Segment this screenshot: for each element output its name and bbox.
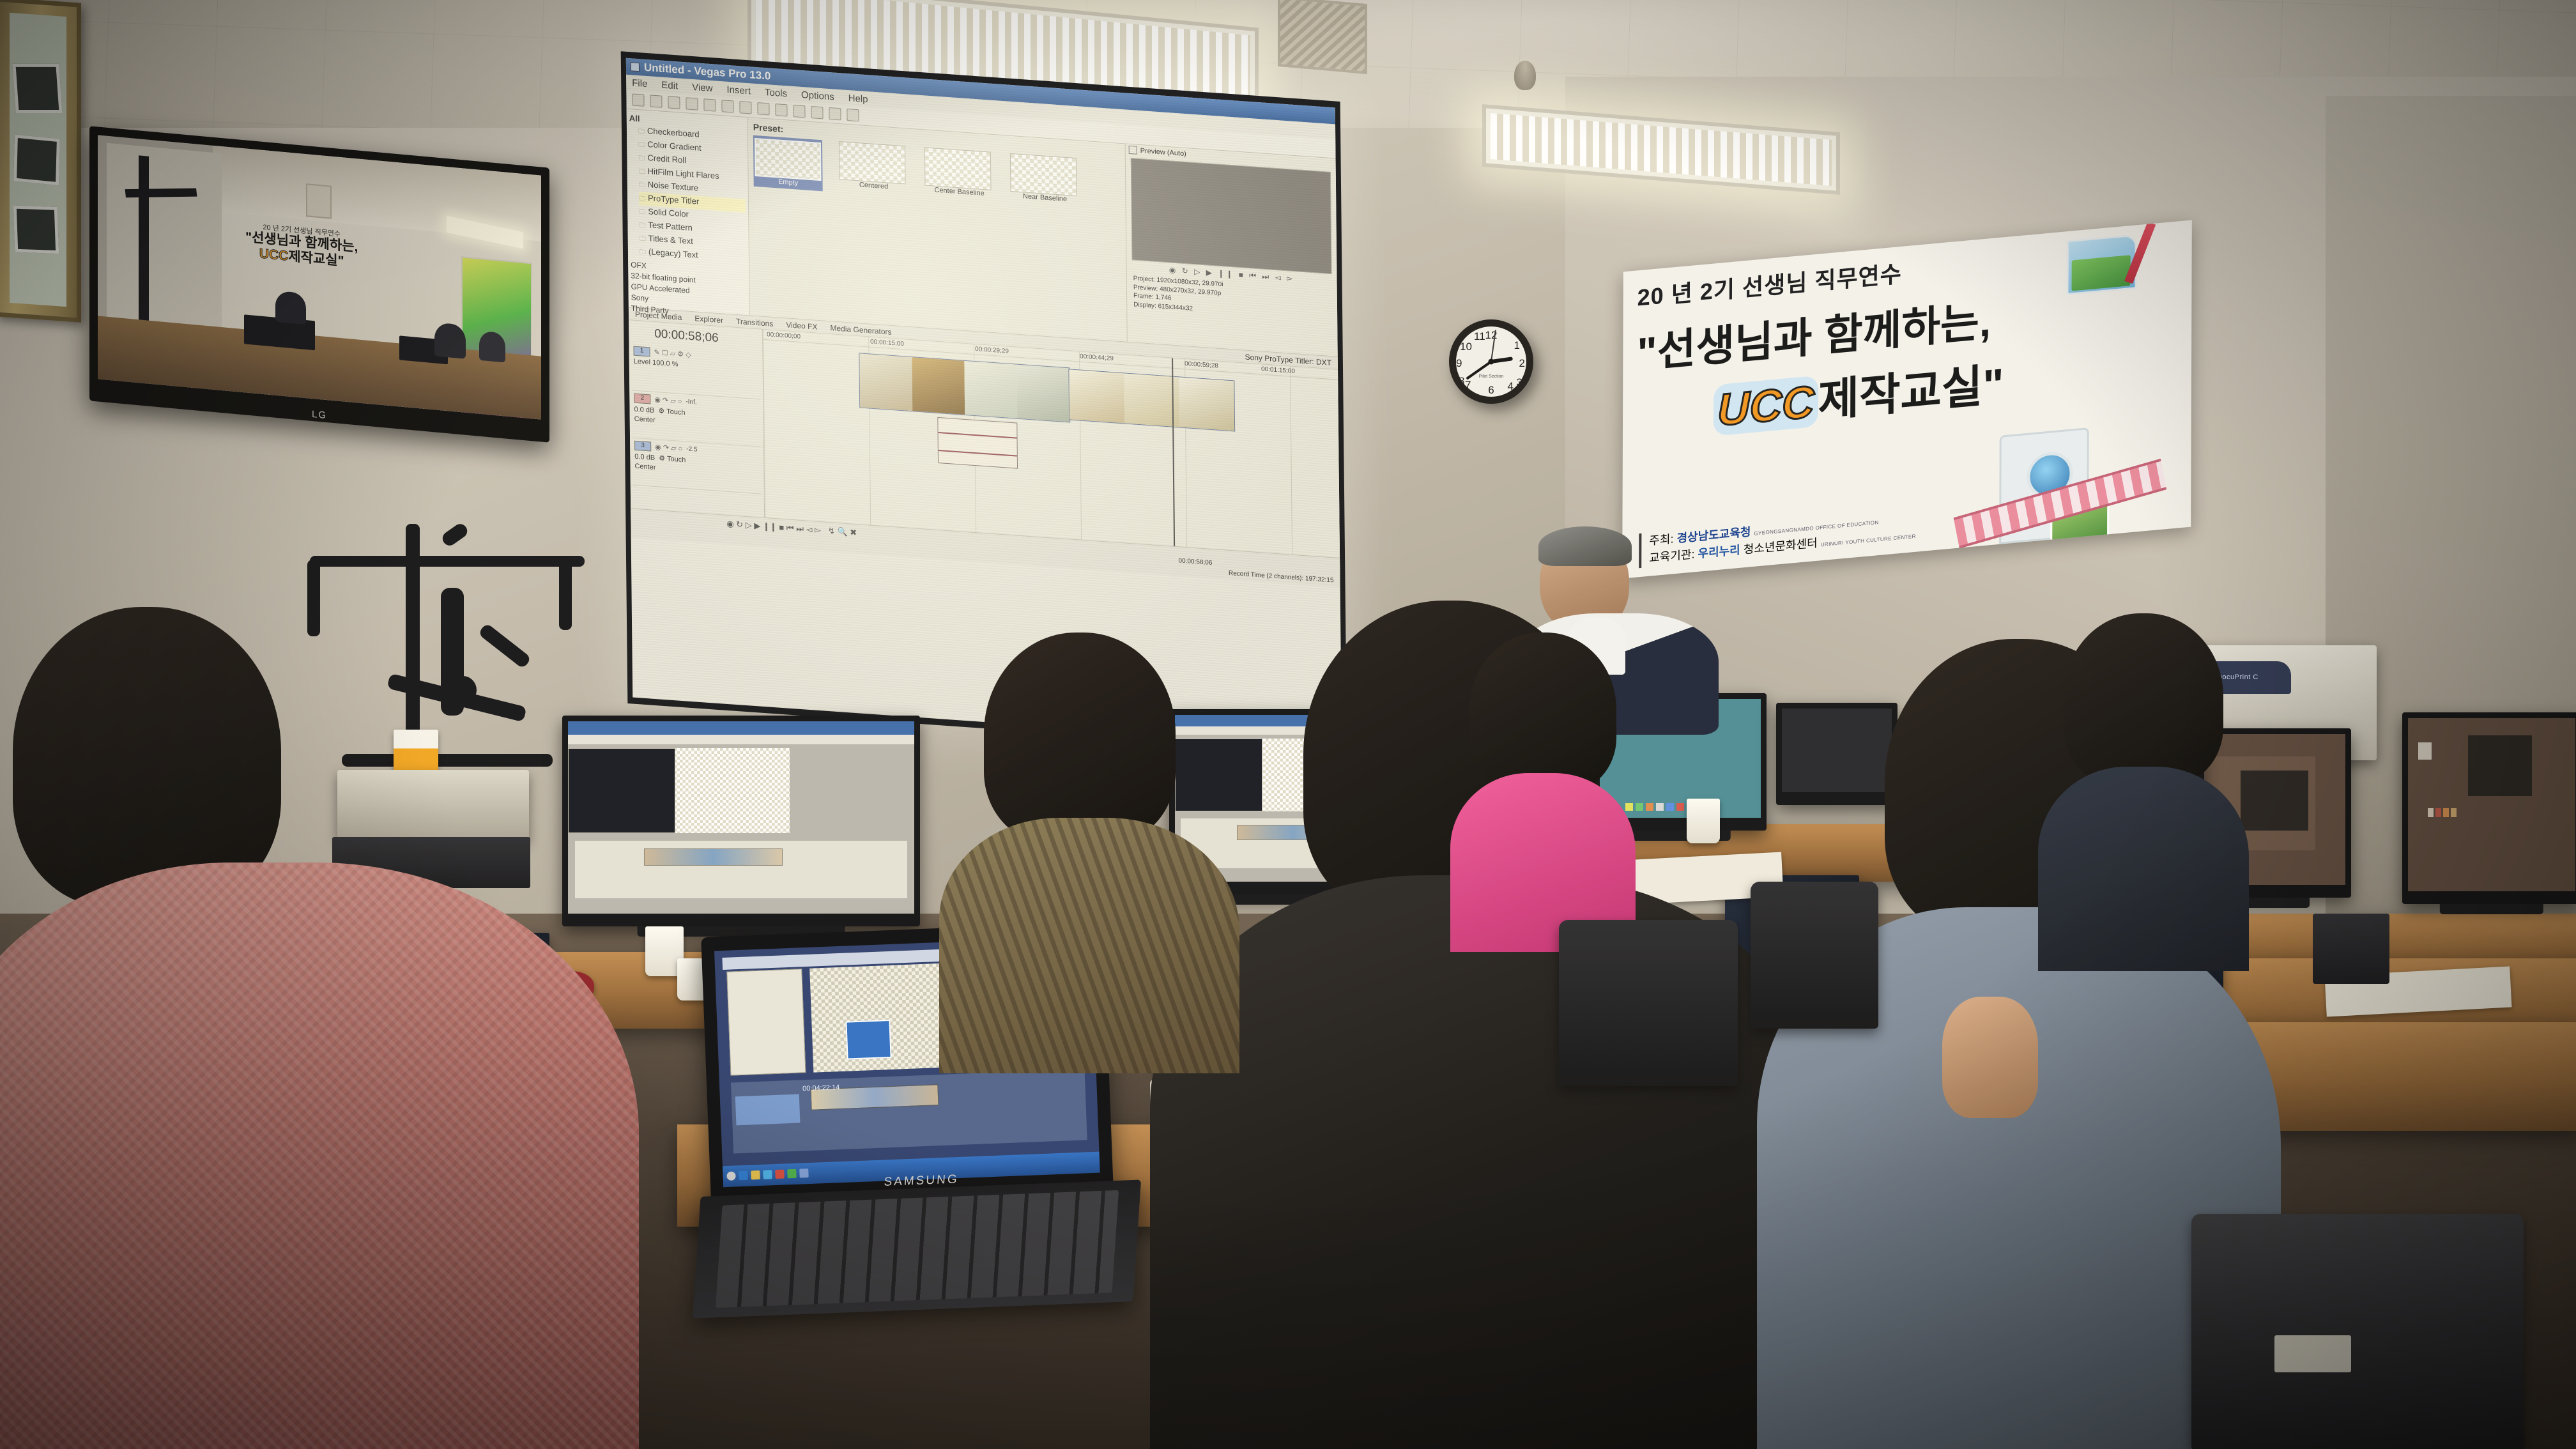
classroom-scene: 20 년 2기 선생님 직무연수 "선생님과 함께하는, UCC제작교실" LG: [0, 0, 2576, 1449]
menu-insert[interactable]: Insert: [726, 84, 751, 96]
ruler-mark: 00:01:15;00: [1261, 365, 1295, 375]
chair-label-tag: [2274, 1335, 2351, 1372]
ruler-mark: 00:00:44;29: [1080, 353, 1114, 362]
preset-thumbnail: [924, 147, 992, 190]
clock-hour-4: 4: [1508, 380, 1514, 393]
wall-mounted-tv: 20 년 2기 선생님 직무연수 "선생님과 함께하는, UCC제작교실" LG: [89, 126, 549, 443]
track-gain[interactable]: 0.0 dB: [634, 406, 654, 415]
properties-icon[interactable]: [703, 98, 716, 111]
video-app-icon[interactable]: [775, 1170, 785, 1179]
save-project-icon[interactable]: [668, 96, 680, 109]
start-button-icon[interactable]: [726, 1172, 736, 1181]
laptop-base: SAMSUNG: [693, 1179, 1141, 1318]
media-player-icon[interactable]: [763, 1170, 772, 1180]
track-meter: -Inf.: [686, 398, 696, 406]
clock-hour-hand: [1491, 356, 1514, 364]
laptop-keyboard[interactable]: [715, 1190, 1118, 1308]
enable-snapping-icon[interactable]: [829, 107, 841, 120]
track-meter: -2.5: [686, 445, 697, 453]
instructor-hair: [1538, 526, 1632, 566]
track-number[interactable]: 2: [634, 394, 650, 404]
help-icon[interactable]: [847, 109, 859, 121]
clock-hour-6: 6: [1488, 384, 1494, 397]
ruler-mark: 00:00:29;29: [975, 346, 1009, 355]
laptop-timecode: 00:04:22;14: [802, 1084, 840, 1092]
banner-ucc-logo: UCC: [1713, 376, 1818, 436]
menu-options[interactable]: Options: [801, 89, 834, 102]
track-number[interactable]: 3: [634, 441, 651, 452]
track-header-audio-2[interactable]: 2 ◉ ↷ ⏥ ○ -Inf. 0.0 dB ⚙ Touch Center: [632, 390, 761, 447]
chair-center: [1559, 920, 1738, 1086]
preset-empty[interactable]: Empty: [753, 135, 823, 192]
laptop-brand-label: SAMSUNG: [884, 1172, 959, 1190]
preset-thumbnail: [839, 141, 906, 184]
undo-icon[interactable]: [793, 105, 805, 118]
record-time-status: Record Time (2 channels): 197:32:15: [1229, 570, 1334, 585]
status-timecode: 00:00:58;06: [1178, 557, 1212, 567]
clock-center-pin: [1489, 359, 1494, 365]
redo-icon[interactable]: [811, 106, 823, 119]
preset-centered[interactable]: Centered: [839, 141, 908, 197]
preset-thumbnail: [755, 138, 822, 181]
student-head: [2064, 613, 2223, 786]
menu-edit[interactable]: Edit: [661, 79, 678, 91]
person-student-pink: [1437, 632, 1648, 952]
timeline-video-clip[interactable]: [859, 353, 1070, 422]
student-torso: [2038, 767, 2249, 971]
timeline-video-clip[interactable]: [1068, 369, 1235, 431]
chair-right-back: [1751, 882, 1878, 1029]
track-gain[interactable]: 0.0 dB: [634, 453, 655, 462]
vegas-icon[interactable]: [799, 1169, 809, 1178]
track-number[interactable]: 1: [634, 346, 650, 357]
clock-hour-11: 11: [1474, 330, 1485, 343]
menu-help[interactable]: Help: [848, 93, 868, 105]
sprinkler-head-icon: [1514, 61, 1536, 90]
copy-icon[interactable]: [757, 102, 769, 115]
save-as-icon[interactable]: [686, 97, 698, 110]
person-student-front-left: [0, 607, 664, 1449]
wall-clock: 12 1 2 3 4 6 7 8 9 10 11 Pilot Section: [1449, 319, 1533, 404]
new-project-icon[interactable]: [632, 93, 644, 106]
tv-brand-label: LG: [312, 409, 327, 421]
clock-hour-9: 9: [1456, 357, 1462, 370]
clock-hour-10: 10: [1460, 341, 1472, 353]
track-header-audio-3[interactable]: 3 ◉ ↷ ⏥ ○ -2.5 0.0 dB ⚙ Touch Center: [632, 438, 762, 494]
hvac-vent-icon: [1278, 0, 1367, 74]
menu-view[interactable]: View: [692, 81, 712, 93]
preview-video-area: [1131, 158, 1332, 274]
tab-video-fx[interactable]: Video FX: [786, 320, 817, 331]
clock-brand-label: Pilot Section: [1479, 374, 1504, 379]
person-student-right-back: [2038, 613, 2249, 971]
track-header-video-1[interactable]: 1 ✎ ☐ ⏥ ⚙ ◇ Level 100.0 %: [631, 343, 760, 399]
cut-icon[interactable]: [739, 101, 751, 114]
media-generators-tree[interactable]: All Checkerboard Color Gradient Credit R…: [627, 109, 750, 316]
timeline-audio-clip[interactable]: [937, 417, 1018, 469]
ruler-mark: 00:00:00;00: [767, 331, 801, 341]
student-head: [1469, 632, 1616, 792]
video-preview-panel[interactable]: Preview (Auto) ◉ ↻ ▷ ▶ ❙❙ ■ ⏮ ⏭ ◅ ▻ Proj…: [1125, 144, 1338, 356]
clock-hour-8: 8: [1459, 375, 1464, 388]
preset-gallery[interactable]: Preset: Empty Centered Center Baselin: [748, 118, 1127, 342]
menu-file[interactable]: File: [632, 77, 647, 89]
student-hand: [1942, 997, 2038, 1118]
ie-icon[interactable]: [739, 1171, 748, 1181]
chrome-icon[interactable]: [787, 1169, 797, 1179]
speaker: [2313, 914, 2389, 984]
framed-photo-collage: [0, 0, 81, 323]
person-student-center: [939, 632, 1246, 1067]
wall-banner: 20 년 2기 선생님 직무연수 "선생님과 함께하는, UCC제작교실" 주최…: [1622, 220, 2192, 578]
clock-hour-3: 3: [1517, 376, 1522, 389]
clock-hour-7: 7: [1465, 379, 1471, 392]
open-project-icon[interactable]: [650, 95, 662, 107]
clock-hour-1: 1: [1514, 339, 1520, 352]
preset-near-baseline[interactable]: Near Baseline: [1010, 153, 1080, 210]
folder-icon[interactable]: [751, 1170, 760, 1180]
ruler-mark: 00:00:59;28: [1184, 360, 1218, 370]
preview-display-icon[interactable]: [1129, 146, 1137, 155]
tab-explorer[interactable]: Explorer: [694, 314, 723, 325]
tv-screen: 20 년 2기 선생님 직무연수 "선생님과 함께하는, UCC제작교실": [98, 135, 541, 419]
menu-tools[interactable]: Tools: [765, 86, 787, 98]
paste-icon[interactable]: [775, 103, 787, 116]
student-head: [984, 632, 1176, 843]
app-icon: [631, 62, 640, 72]
preview-quality-label[interactable]: Preview (Auto): [1140, 147, 1186, 158]
preset-center-baseline[interactable]: Center Baseline: [924, 147, 994, 203]
monitor-right-2: [2402, 712, 2576, 904]
monitor-screen[interactable]: [2408, 718, 2575, 891]
clock-hour-2: 2: [1519, 357, 1525, 370]
chair-foreground-right: [2191, 1214, 2524, 1449]
ruler-mark: 00:00:15;00: [870, 339, 904, 348]
book-illustration-icon: [2066, 234, 2136, 295]
org-name-en: URINURI YOUTH CULTURE CENTER: [1821, 533, 1916, 548]
render-icon[interactable]: [721, 100, 733, 112]
preset-thumbnail: [1010, 153, 1077, 196]
tab-transitions[interactable]: Transitions: [736, 316, 773, 328]
banner-artwork: [1954, 390, 2147, 555]
